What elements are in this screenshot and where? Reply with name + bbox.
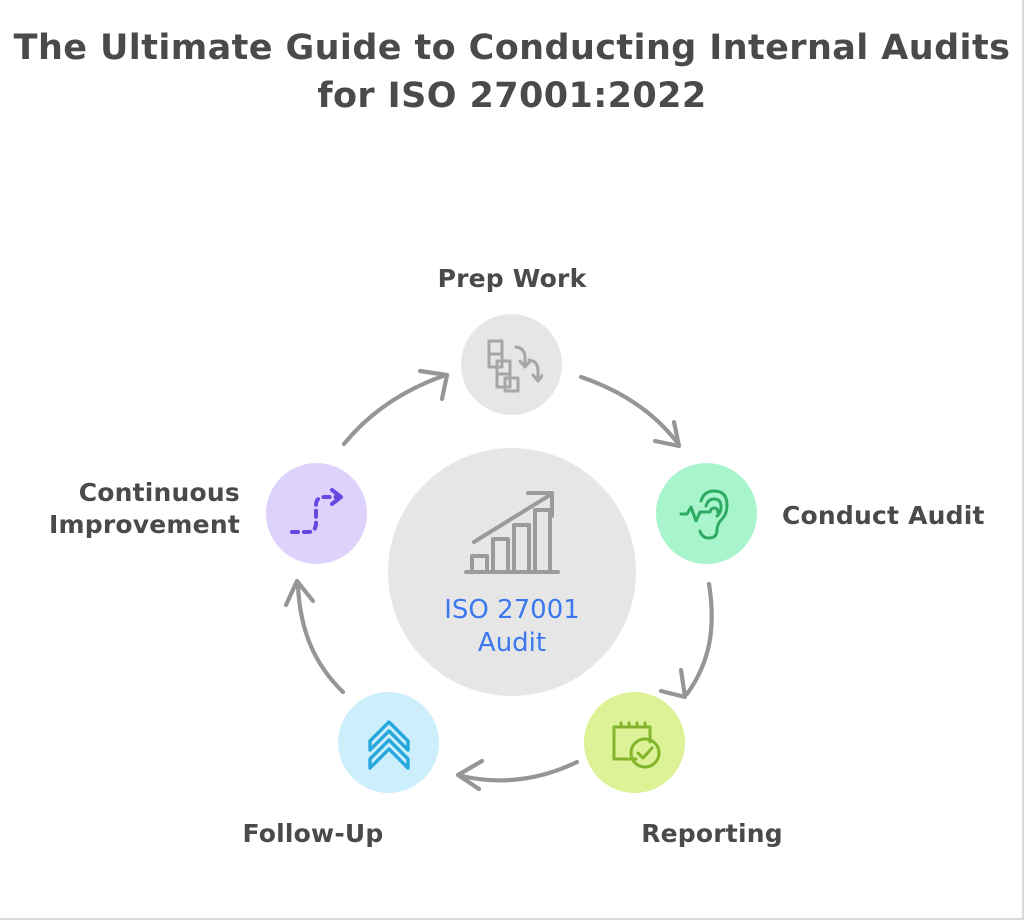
- label-conduct-audit: Conduct Audit: [782, 500, 1022, 532]
- arrow-conduct-to-reporting: [661, 584, 712, 697]
- hub-node: ISO 27001 Audit: [388, 448, 636, 696]
- arrow-followup-to-continuous: [286, 581, 343, 692]
- label-prep-work: Prep Work: [312, 263, 712, 295]
- node-follow-up[interactable]: [338, 692, 439, 793]
- node-continuous-improvement[interactable]: [266, 463, 367, 564]
- node-prep-work[interactable]: [461, 314, 562, 415]
- node-reporting[interactable]: [584, 692, 685, 793]
- notepad-check-icon: [604, 712, 666, 774]
- label-continuous-improvement: Continuous Improvement: [2, 477, 240, 541]
- arrow-reporting-to-followup: [458, 761, 577, 789]
- growth-bar-chart-icon: [458, 484, 566, 584]
- infographic-canvas: The Ultimate Guide to Conducting Interna…: [0, 0, 1024, 920]
- hub-label: ISO 27001 Audit: [444, 594, 580, 661]
- double-chevron-up-icon: [361, 712, 417, 774]
- label-reporting: Reporting: [522, 818, 902, 850]
- dashed-path-arrow-icon: [286, 483, 348, 545]
- node-conduct-audit[interactable]: [656, 463, 757, 564]
- ear-listening-icon: [675, 482, 739, 546]
- label-follow-up: Follow-Up: [123, 818, 503, 850]
- arrow-prep-to-conduct: [581, 377, 679, 446]
- cycle-diagram: .arw { fill:none; stroke:#969696; stroke…: [0, 0, 1024, 920]
- blocks-rearrange-icon: [481, 334, 543, 396]
- arrow-continuous-to-prep: [344, 371, 447, 444]
